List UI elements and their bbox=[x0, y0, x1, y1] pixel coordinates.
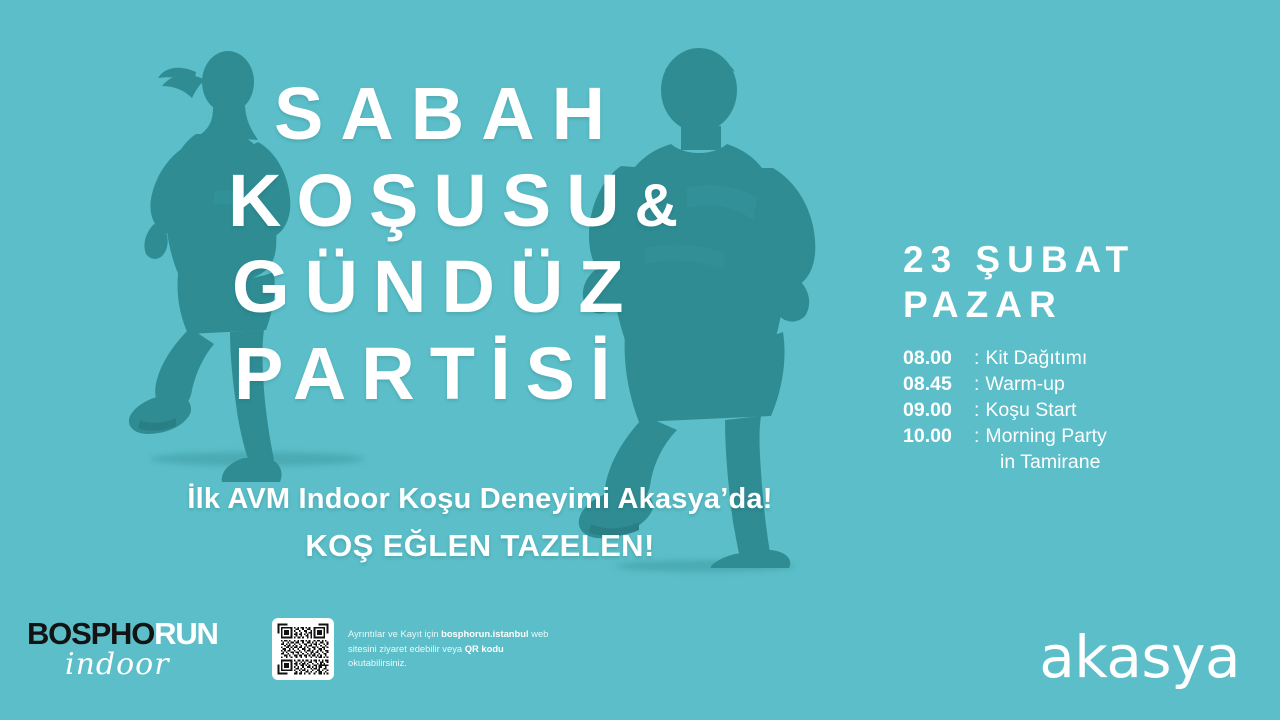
bosphorun-word-dark: BOSPHO bbox=[27, 616, 154, 651]
qr-code[interactable] bbox=[272, 618, 334, 680]
headline-line-3: GÜNDÜZ bbox=[232, 251, 848, 324]
tagline-secondary: KOŞ EĞLEN TAZELEN! bbox=[0, 528, 960, 564]
event-day: PAZAR bbox=[903, 282, 1233, 327]
qr-website-link[interactable]: bosphorun.istanbul bbox=[441, 628, 529, 639]
akasya-logo: akasya bbox=[1039, 628, 1240, 686]
headline-ampersand: & bbox=[635, 172, 678, 239]
schedule-item: 08.00 : Kit Dağıtımı bbox=[903, 346, 1233, 372]
bosphorun-word-light: RUN bbox=[154, 616, 218, 651]
schedule-label: Koşu Start bbox=[985, 398, 1076, 424]
female-runner-shadow bbox=[150, 452, 365, 466]
qr-text-part3: okutabilirsiniz. bbox=[348, 657, 407, 668]
bosphorun-subtitle: indoor bbox=[65, 650, 242, 680]
schedule-item: 10.00 : Morning Party bbox=[903, 424, 1233, 450]
schedule-time: 08.45 bbox=[903, 372, 971, 398]
headline-line-2-text: KOŞUSU bbox=[228, 159, 635, 242]
schedule-label-continuation: in Tamirane bbox=[903, 450, 1233, 476]
schedule-item: 09.00 : Koşu Start bbox=[903, 398, 1233, 424]
schedule-time: 08.00 bbox=[903, 346, 971, 372]
bosphorun-logo: BOSPHORUN indoor bbox=[27, 618, 242, 694]
qr-bold-label: QR kodu bbox=[465, 643, 504, 654]
event-date: 23 ŞUBAT bbox=[903, 237, 1233, 282]
headline-line-4: PARTİSİ bbox=[234, 338, 848, 411]
schedule-time: 10.00 bbox=[903, 424, 971, 450]
headline-block: SABAH KOŞUSU& GÜNDÜZ PARTİSİ bbox=[228, 78, 848, 410]
schedule-separator: : bbox=[971, 424, 985, 450]
event-poster: SABAH KOŞUSU& GÜNDÜZ PARTİSİ İlk AVM Ind… bbox=[0, 0, 1280, 720]
qr-text-part1: Ayrıntılar ve Kayıt için bbox=[348, 628, 441, 639]
schedule-list: 08.00 : Kit Dağıtımı 08.45 : Warm-up 09.… bbox=[903, 346, 1233, 476]
schedule-separator: : bbox=[971, 372, 985, 398]
headline-line-1: SABAH bbox=[274, 78, 848, 151]
schedule-label: Kit Dağıtımı bbox=[985, 346, 1087, 372]
schedule-label: Warm-up bbox=[985, 372, 1064, 398]
tagline-primary: İlk AVM Indoor Koşu Deneyimi Akasya’da! bbox=[0, 483, 960, 516]
qr-instructions: Ayrıntılar ve Kayıt için bosphorun.istan… bbox=[348, 627, 558, 672]
bosphorun-wordmark: BOSPHORUN bbox=[27, 618, 242, 649]
headline-line-2: KOŞUSU& bbox=[228, 165, 848, 238]
schedule-item: 08.45 : Warm-up bbox=[903, 372, 1233, 398]
qr-registration-block: Ayrıntılar ve Kayıt için bosphorun.istan… bbox=[272, 618, 558, 680]
schedule-label: Morning Party bbox=[985, 424, 1106, 450]
schedule-separator: : bbox=[971, 398, 985, 424]
event-info-column: 23 ŞUBAT PAZAR 08.00 : Kit Dağıtımı 08.4… bbox=[903, 237, 1233, 476]
qr-code-image bbox=[276, 622, 330, 676]
schedule-time: 09.00 bbox=[903, 398, 971, 424]
schedule-separator: : bbox=[971, 346, 985, 372]
